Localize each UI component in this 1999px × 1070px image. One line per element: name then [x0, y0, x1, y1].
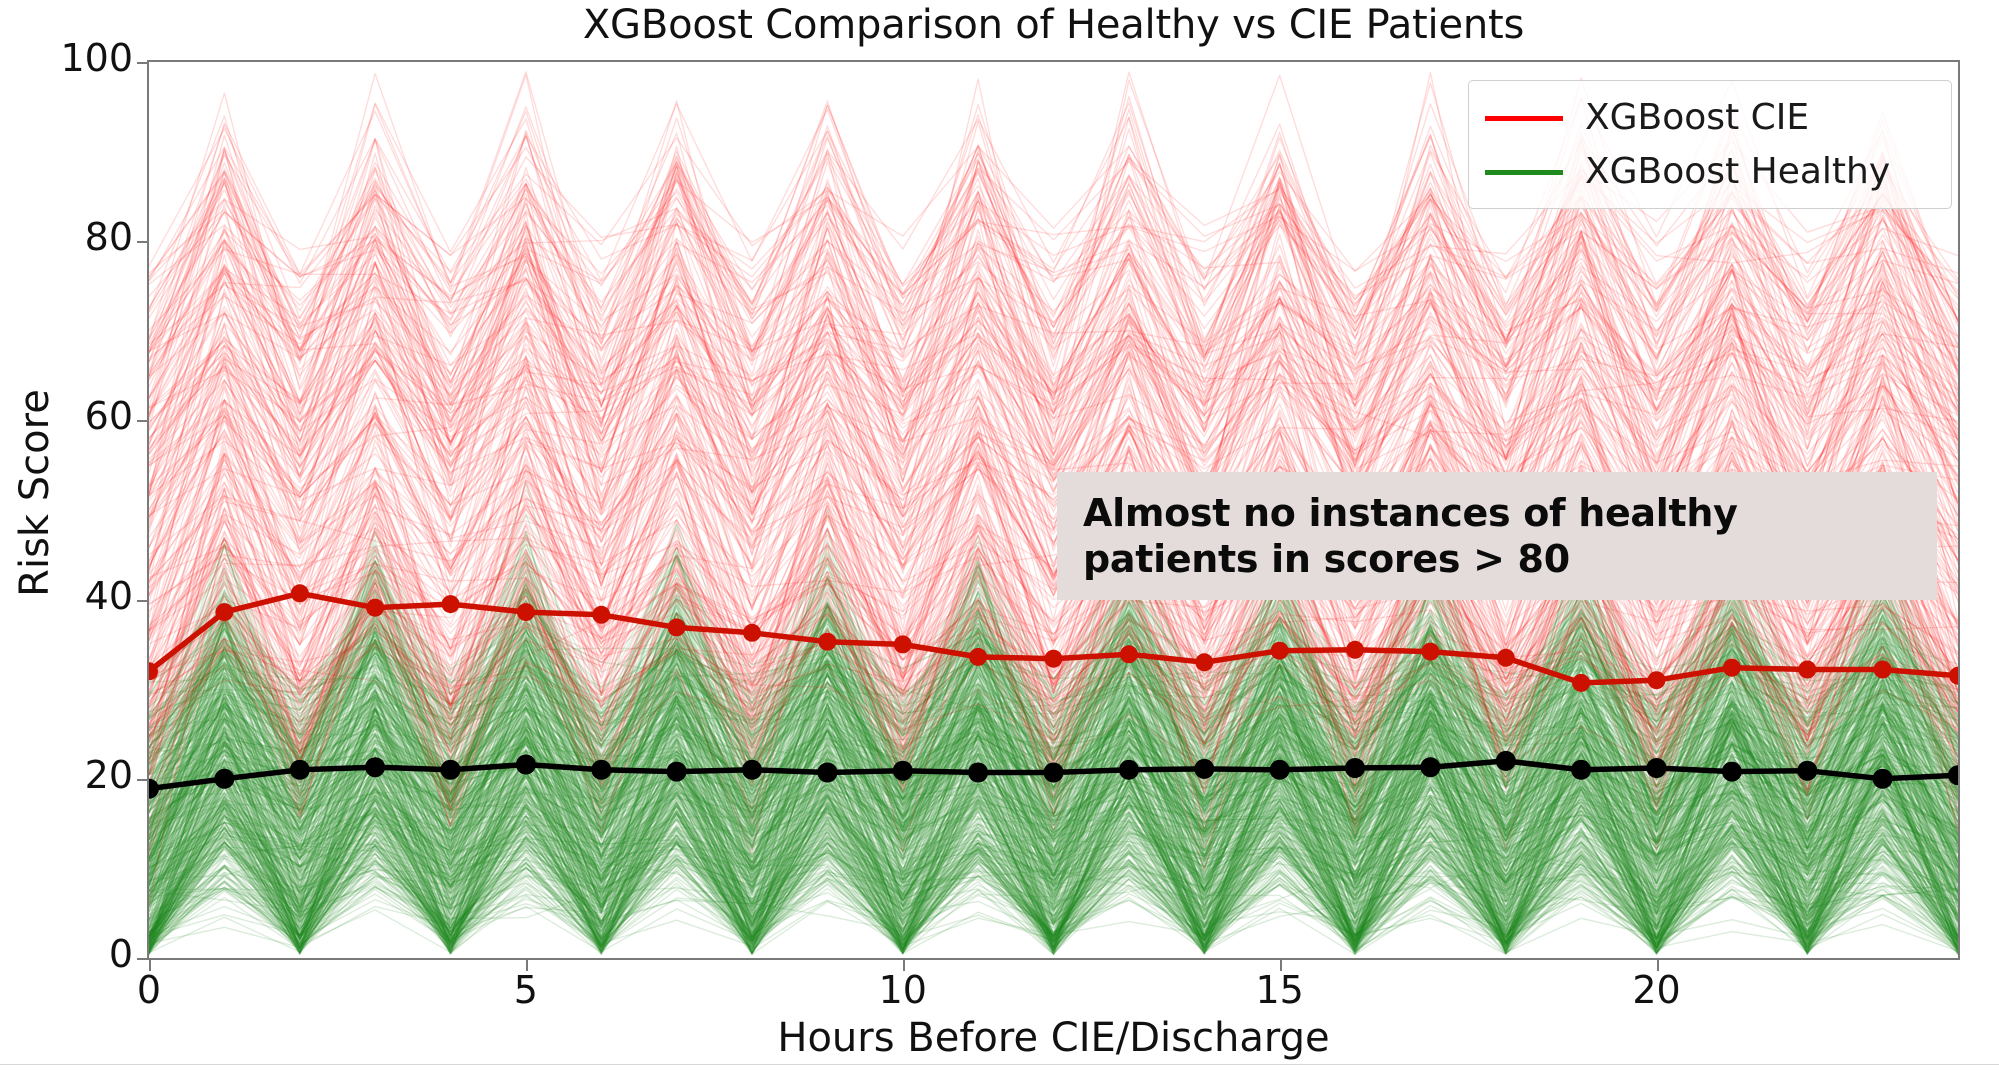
plot-area: Almost no instances of healthy patients … — [147, 60, 1960, 960]
x-axis-label: Hours Before CIE/Discharge — [147, 1015, 1960, 1061]
legend: XGBoost CIE XGBoost Healthy — [1468, 80, 1952, 209]
x-tick-mark — [1657, 960, 1659, 971]
annotation-callout: Almost no instances of healthy patients … — [1057, 472, 1937, 600]
x-tick-mark — [149, 960, 151, 971]
x-tick-mark — [903, 960, 905, 971]
y-tick-label: 40 — [13, 574, 133, 618]
x-tick-mark — [526, 960, 528, 971]
y-tick-label: 80 — [13, 215, 133, 259]
legend-label-healthy: XGBoost Healthy — [1585, 154, 1890, 190]
slide-bottom-rule — [0, 1064, 1999, 1065]
y-tick-label: 60 — [13, 394, 133, 438]
x-tick-label: 5 — [466, 968, 586, 1012]
x-tick-label: 0 — [89, 968, 209, 1012]
x-tick-label: 20 — [1597, 968, 1717, 1012]
y-tick-label: 20 — [13, 753, 133, 797]
x-tick-mark — [1280, 960, 1282, 971]
y-tick-label: 100 — [13, 36, 133, 80]
annotation-line-1: Almost no instances of healthy — [1083, 490, 1911, 536]
figure-root: XGBoost Comparison of Healthy vs CIE Pat… — [0, 0, 1999, 1070]
legend-swatch-cie-icon — [1485, 116, 1563, 121]
page-title: XGBoost Comparison of Healthy vs CIE Pat… — [147, 2, 1960, 48]
legend-item-cie: XGBoost CIE — [1485, 91, 1935, 145]
x-tick-label: 10 — [843, 968, 963, 1012]
legend-swatch-healthy-icon — [1485, 170, 1563, 175]
legend-item-healthy: XGBoost Healthy — [1485, 145, 1935, 199]
legend-label-cie: XGBoost CIE — [1585, 100, 1809, 136]
annotation-line-2: patients in scores > 80 — [1083, 536, 1911, 582]
x-tick-label: 15 — [1220, 968, 1340, 1012]
